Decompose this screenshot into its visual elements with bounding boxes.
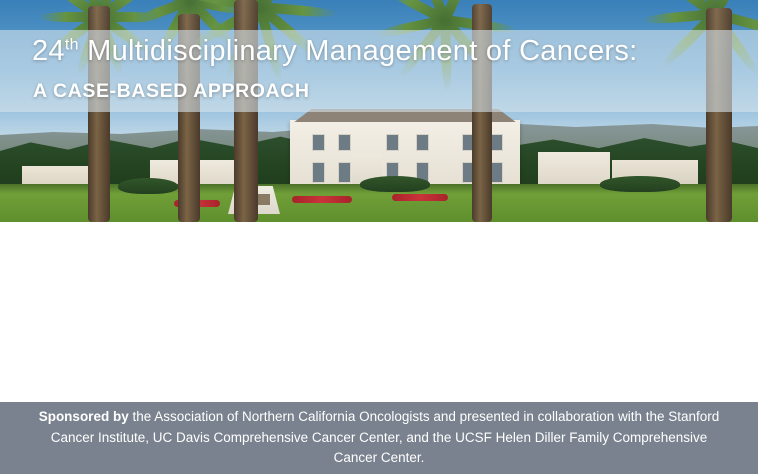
page-subtitle: A CASE-BASED APPROACH [33,80,310,103]
event-info-section: March 15-17, 2024 For more information, … [0,222,758,310]
conference-poster: 24th Multidisciplinary Management of Can… [0,0,758,474]
title-ordinal: th [65,36,79,53]
title-rest: Multidisciplinary Management of Cancers: [79,35,638,67]
page-title: 24th Multidisciplinary Management of Can… [32,36,742,66]
sponsor-text: the Association of Northern California O… [51,409,720,466]
sponsor-logos-row: ANCO Educating and Empowering the Northe… [0,312,758,400]
sponsor-label: Sponsored by [39,409,129,424]
sponsor-footer: Sponsored by the Association of Northern… [0,402,758,474]
sponsor-statement: Sponsored by the Association of Northern… [29,407,729,470]
hero-banner-image: 24th Multidisciplinary Management of Can… [0,0,758,222]
title-number: 24 [32,35,65,67]
